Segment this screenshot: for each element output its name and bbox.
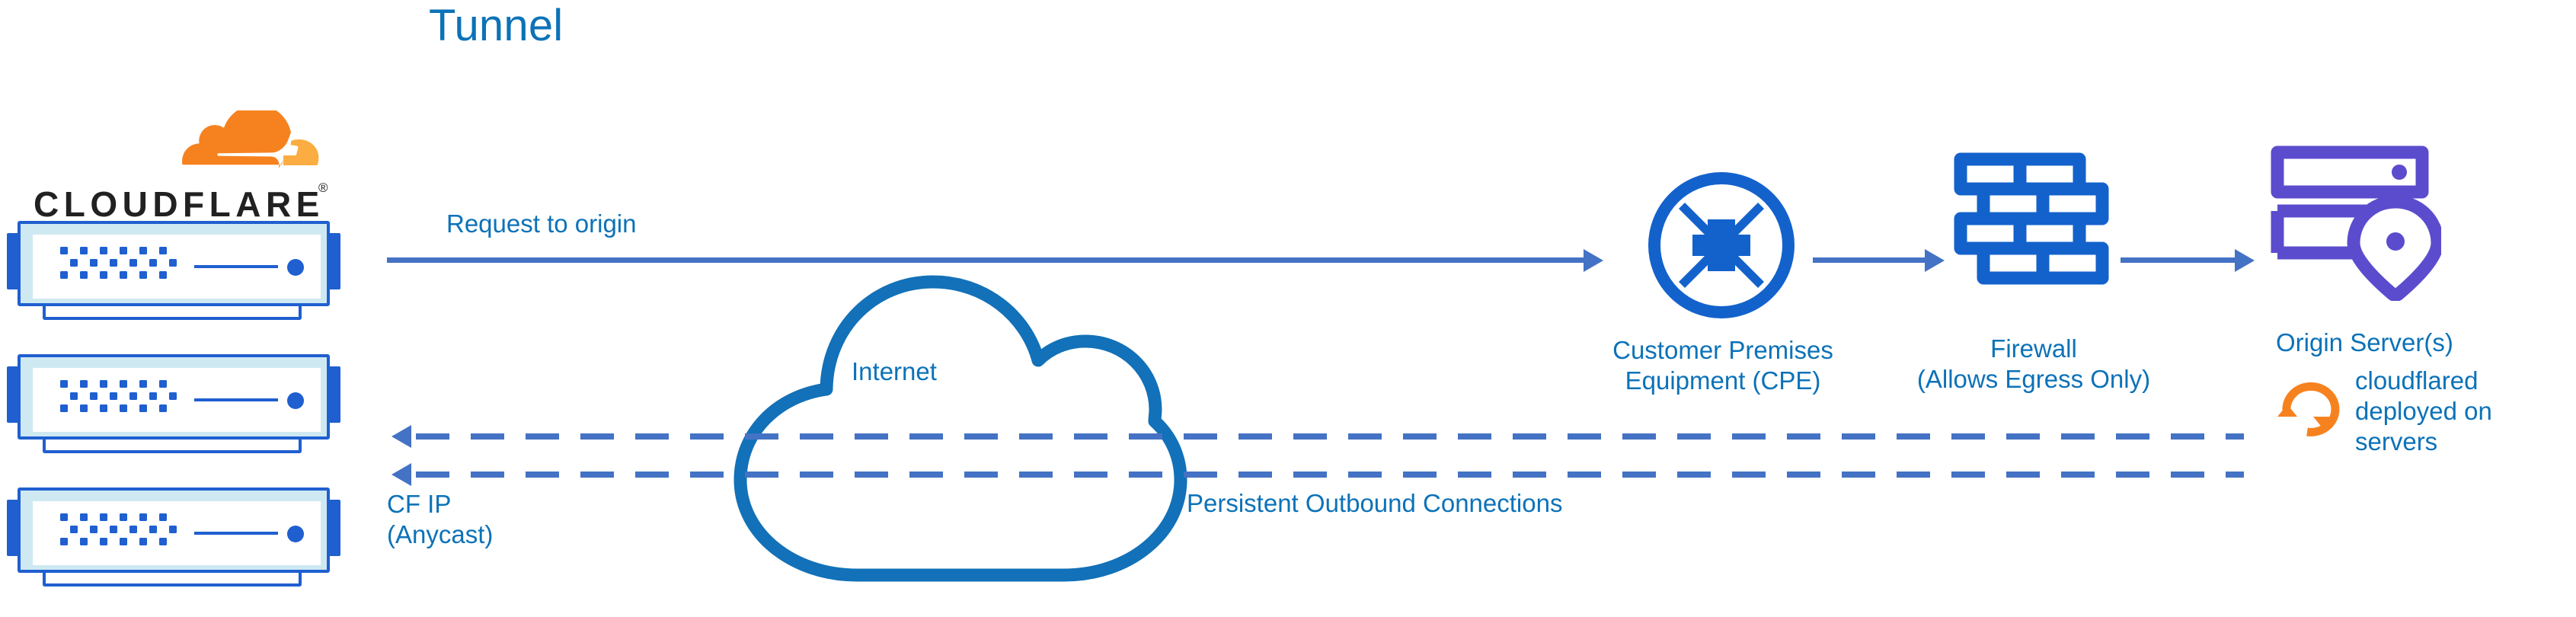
device-led-icon: [287, 392, 304, 409]
cloudflare-logo: CLOUDFLARE ®: [23, 110, 335, 217]
device-status-bar: [194, 532, 278, 535]
cloudflared-label-line1: cloudflared: [2355, 366, 2492, 396]
return-flow-line-2: [416, 472, 2244, 478]
cpe-label: Customer Premises Equipment (CPE): [1555, 335, 1890, 396]
device-status-bar: [194, 398, 278, 401]
cpe-to-firewall-arrowhead: [1925, 249, 1945, 272]
firewall-label: Firewall (Allows Egress Only): [1866, 334, 2201, 395]
internet-cloud-icon: [701, 229, 1188, 594]
cpe-to-firewall-line: [1813, 257, 1925, 263]
cloudflared-label-line3: servers: [2355, 427, 2492, 457]
persistent-outbound-connections-label: Persistent Outbound Connections: [1187, 488, 1562, 519]
return-flow-line-1: [416, 433, 2244, 440]
page-title: Tunnel: [429, 0, 563, 51]
cloudflare-edge-server-1: [6, 213, 341, 324]
device-led-icon: [287, 526, 304, 542]
cloudflare-cloud-icon: [171, 110, 328, 183]
cloudflared-label: cloudflared deployed on servers: [2355, 366, 2492, 457]
cloudflare-edge-server-3: [6, 480, 341, 590]
origin-server-label: Origin Server(s): [2276, 328, 2453, 358]
firewall-label-line2: (Allows Egress Only): [1866, 364, 2201, 395]
cpe-label-line2: Equipment (CPE): [1555, 366, 1890, 396]
device-status-bar: [194, 265, 278, 268]
registered-trademark-icon: ®: [318, 181, 328, 196]
device-chassis: [18, 221, 330, 306]
request-to-origin-label: Request to origin: [446, 209, 636, 239]
firewall-to-origin-arrowhead: [2235, 249, 2255, 272]
sync-refresh-icon: [2272, 371, 2348, 443]
cpe-label-line1: Customer Premises: [1555, 335, 1890, 366]
internet-label: Internet: [852, 356, 937, 387]
firewall-to-origin-line: [2121, 257, 2235, 263]
device-chassis: [18, 354, 330, 440]
brick-wall-icon: [1954, 152, 2114, 305]
request-flow-arrowhead: [1584, 249, 1603, 272]
diagram-canvas: Tunnel CLOUDFLARE ®: [0, 0, 2576, 617]
return-flow-arrowhead-2: [392, 463, 411, 486]
firewall-label-line1: Firewall: [1866, 334, 2201, 364]
cf-ip-label-line2: (Anycast): [387, 519, 493, 550]
return-flow-arrowhead-1: [392, 425, 411, 448]
device-chassis: [18, 488, 330, 573]
device-led-icon: [287, 259, 304, 276]
cf-ip-label: CF IP (Anycast): [387, 489, 493, 550]
cf-ip-label-line1: CF IP: [387, 489, 493, 519]
cloudflare-edge-server-2: [6, 347, 341, 457]
cpe-router-icon: [1645, 169, 1798, 321]
origin-server-rack-icon: [2270, 145, 2441, 301]
cloudflared-label-line2: deployed on: [2355, 396, 2492, 427]
